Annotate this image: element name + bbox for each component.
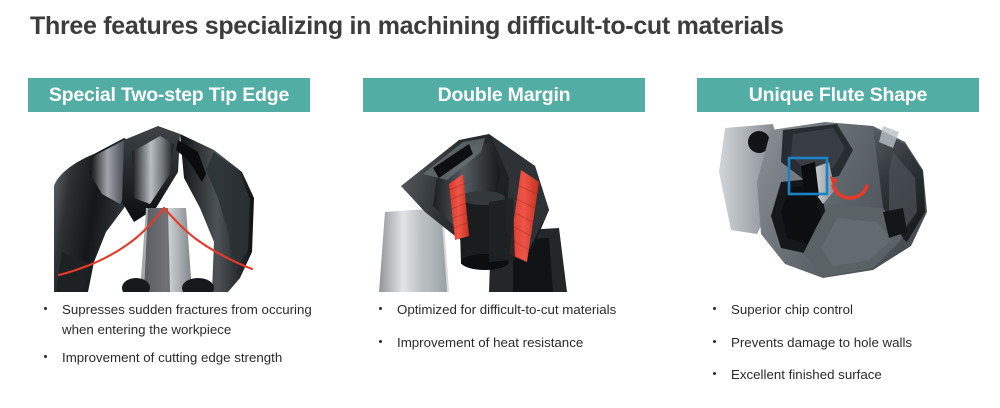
bullet-dot-icon — [379, 340, 382, 343]
feature-column-double-margin: Double Margin — [363, 78, 645, 398]
list-item: Supresses sudden fractures from occuring… — [40, 300, 312, 339]
bullet-list-1: Optimized for difficult-to-cut materials… — [375, 300, 647, 365]
bullet-dot-icon — [713, 372, 716, 375]
list-item-label: Improvement of cutting edge strength — [62, 350, 282, 365]
list-item-label: Improvement of heat resistance — [397, 335, 583, 350]
feature-header-1: Double Margin — [363, 78, 645, 112]
list-item-label: Supresses sudden fractures from occuring… — [62, 302, 312, 337]
list-item-label: Prevents damage to hole walls — [731, 335, 912, 350]
list-item: Superior chip control — [709, 300, 981, 320]
feature-header-2: Unique Flute Shape — [697, 78, 979, 112]
list-item: Improvement of heat resistance — [375, 333, 647, 353]
list-item: Optimized for difficult-to-cut materials — [375, 300, 647, 320]
list-item: Improvement of cutting edge strength — [40, 348, 312, 368]
bullet-list-2: Superior chip control Prevents damage to… — [709, 300, 981, 398]
list-item-label: Optimized for difficult-to-cut materials — [397, 302, 616, 317]
bullet-dot-icon — [44, 355, 47, 358]
feature-column-unique-flute-shape: Unique Flute Shape — [697, 78, 979, 398]
page-title: Three features specializing in machining… — [30, 12, 970, 41]
bullet-dot-icon — [713, 307, 716, 310]
bullet-dot-icon — [44, 307, 47, 310]
bullet-dot-icon — [713, 340, 716, 343]
slide-root: Three features specializing in machining… — [0, 0, 1000, 408]
bullet-list-0: Supresses sudden fractures from occuring… — [40, 300, 312, 377]
list-item: Excellent finished surface — [709, 365, 981, 385]
list-item-label: Excellent finished surface — [731, 367, 882, 382]
list-item-label: Superior chip control — [731, 302, 853, 317]
drill-double-margin-photo — [363, 112, 645, 292]
feature-column-special-two-step-tip-edge: Special Two-step Tip Edge — [28, 78, 310, 398]
feature-header-0: Special Two-step Tip Edge — [28, 78, 310, 112]
drill-tip-two-step-edge-photo — [28, 112, 310, 292]
bullet-dot-icon — [379, 307, 382, 310]
drill-unique-flute-shape-photo — [697, 112, 979, 292]
list-item: Prevents damage to hole walls — [709, 333, 981, 353]
